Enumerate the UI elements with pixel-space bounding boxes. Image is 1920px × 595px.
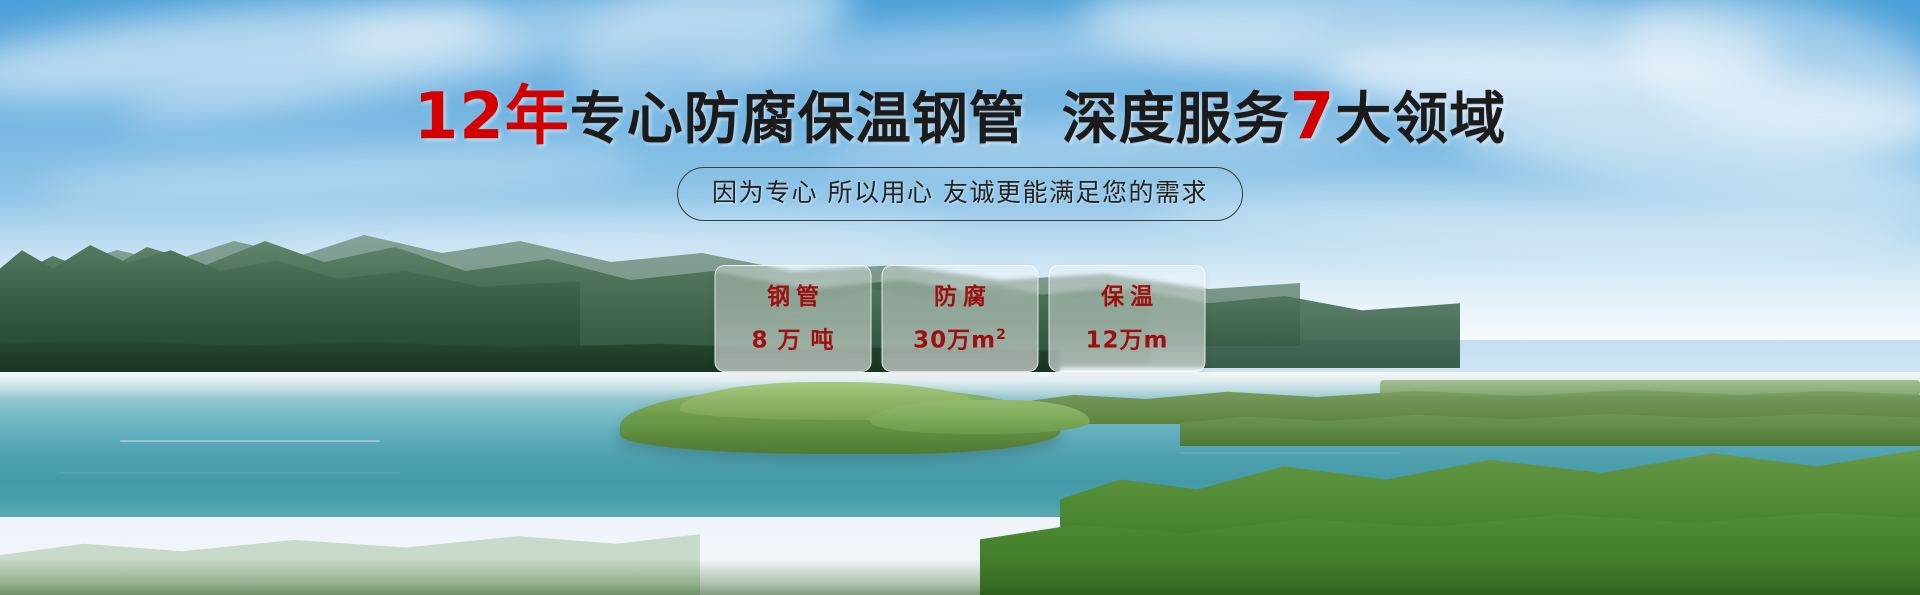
stat-card-label: 保温 [1095,284,1159,310]
bottom-shadow [0,559,1920,595]
water-ripple [60,472,400,474]
stat-value-text: 12万m [1086,327,1169,353]
headline-segment-1: 专心防腐保温钢管 [570,87,1026,152]
headline-years: 12年 [414,80,570,154]
marsh-strip [1380,380,1920,396]
water-ripple [1180,452,1400,454]
headline-fields-count: 7 [1290,80,1336,154]
headline-segment-2: 深度服务 [1062,87,1290,152]
stat-value-text: 8 万 吨 [751,327,834,353]
stat-card-steel-pipe: 钢管 8 万 吨 [715,265,872,372]
stat-card-anticorrosion: 防腐 30万m2 [882,265,1039,372]
water-ripple [120,440,380,442]
stat-value-superscript: 2 [996,327,1007,343]
tagline-pill: 因为专心 所以用心 友诚更能满足您的需求 [677,167,1243,221]
stat-card-group: 钢管 8 万 吨 防腐 30万m2 保温 12万m [715,265,1206,372]
headline-segment-3: 大领域 [1335,87,1506,152]
stat-card-insulation: 保温 12万m [1049,265,1206,372]
hero-banner: 12年专心防腐保温钢管深度服务7大领域 因为专心 所以用心 友诚更能满足您的需求… [0,0,1920,595]
stat-card-label: 钢管 [761,284,825,310]
stat-value-text: 30万m [913,327,996,353]
banner-headline: 12年专心防腐保温钢管深度服务7大领域 [0,86,1920,151]
stat-card-value: 30万m2 [913,322,1007,354]
stat-card-value: 12万m [1086,322,1169,354]
grass-island-right [870,400,1090,434]
stat-card-value: 8 万 吨 [751,322,834,354]
stat-card-label: 防腐 [928,284,992,310]
